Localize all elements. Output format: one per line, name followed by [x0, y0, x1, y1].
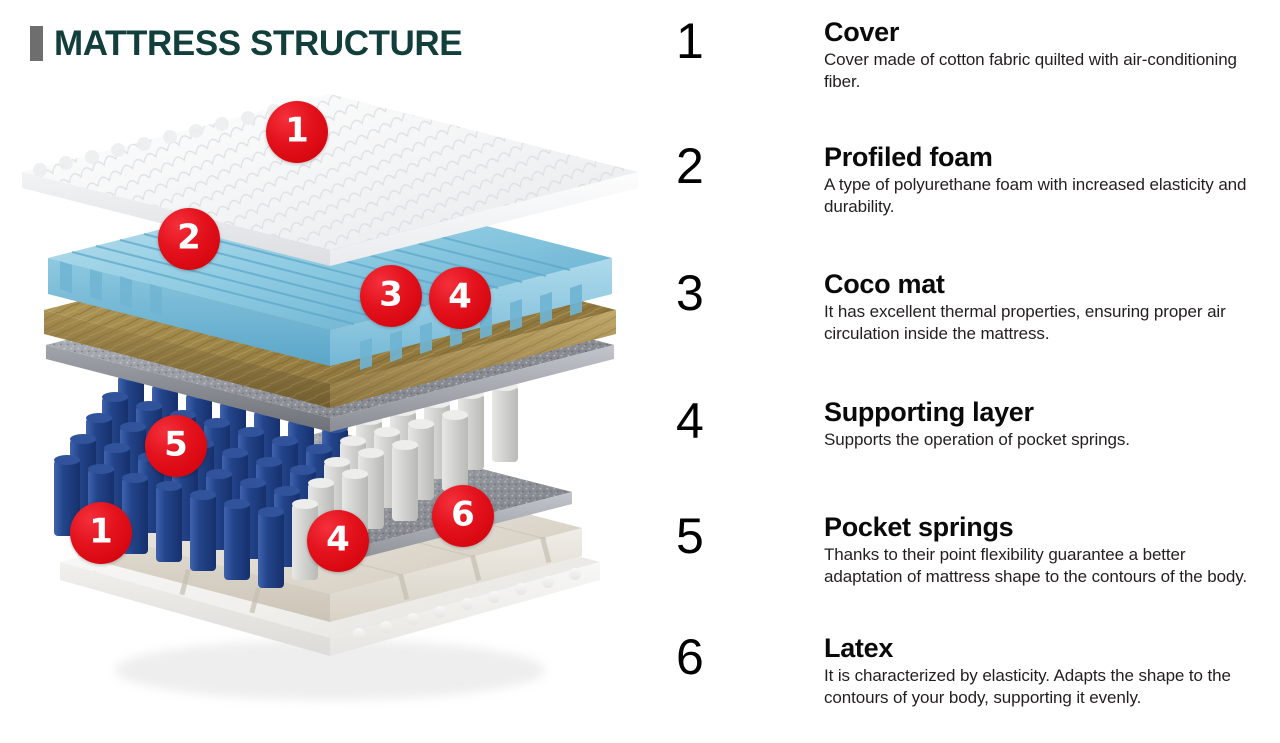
pin-number: 4 — [326, 523, 350, 557]
title-accent-mark — [30, 26, 43, 61]
legend-title: Cover — [824, 18, 1254, 46]
title-text: MATTRESS STRUCTURE — [54, 26, 462, 61]
pin-bubble: 1 — [676, 12, 768, 70]
legend-description: It is characterized by elasticity. Adapt… — [824, 665, 1254, 709]
legend-text-block: Profiled foam A type of polyurethane foa… — [824, 137, 1254, 219]
pin-number: 6 — [676, 629, 704, 685]
callout-pin-2-profiled-foam[interactable]: 2 — [158, 208, 220, 270]
legend-item-latex[interactable]: 6 Latex It is characterized by elasticit… — [660, 628, 1280, 720]
pin-number: 4 — [676, 393, 704, 449]
legend-description: Supports the operation of pocket springs… — [824, 429, 1254, 451]
pin-bubble: 5 — [145, 415, 207, 477]
pin-bubble: 3 — [676, 264, 768, 322]
pin-number: 5 — [676, 508, 704, 564]
legend-title: Latex — [824, 634, 1254, 662]
legend-pin-5[interactable]: 5 — [676, 507, 768, 599]
pin-bubble: 2 — [158, 208, 220, 270]
legend-title: Coco mat — [824, 270, 1254, 298]
legend-title: Pocket springs — [824, 513, 1254, 541]
pin-bubble: 1 — [70, 502, 132, 564]
legend-pin-4[interactable]: 4 — [676, 392, 768, 484]
callout-pin-1-cover-bottom[interactable]: 1 — [70, 502, 132, 564]
legend-title: Profiled foam — [824, 143, 1254, 171]
legend-text-block: Coco mat It has excellent thermal proper… — [824, 264, 1254, 346]
pin-bubble: 4 — [307, 510, 369, 572]
legend-description: A type of polyurethane foam with increas… — [824, 174, 1254, 218]
pin-number: 2 — [177, 221, 201, 255]
page-title: MATTRESS STRUCTURE — [30, 26, 462, 61]
pin-bubble: 5 — [676, 507, 768, 565]
pin-number: 3 — [379, 278, 403, 312]
pin-number: 5 — [164, 428, 188, 462]
pin-number: 2 — [676, 138, 704, 194]
pin-number: 1 — [676, 13, 704, 69]
mattress-illustration: 1 2 3 4 5 4 — [0, 60, 660, 720]
legend-description: Thanks to their point flexibility guaran… — [824, 544, 1254, 588]
pin-bubble: 3 — [360, 265, 422, 327]
pin-number: 1 — [285, 114, 309, 148]
legend-item-coco-mat[interactable]: 3 Coco mat It has excellent thermal prop… — [660, 264, 1280, 356]
legend-panel: 1 Cover Cover made of cotton fabric quil… — [660, 0, 1280, 743]
pin-bubble: 6 — [432, 485, 494, 547]
pin-bubble: 2 — [676, 137, 768, 195]
legend-item-cover[interactable]: 1 Cover Cover made of cotton fabric quil… — [660, 12, 1280, 104]
legend-description: It has excellent thermal properties, ens… — [824, 301, 1254, 345]
legend-description: Cover made of cotton fabric quilted with… — [824, 49, 1254, 93]
callout-pin-3-coco-mat[interactable]: 3 — [360, 265, 422, 327]
pin-number: 1 — [89, 515, 113, 549]
legend-text-block: Cover Cover made of cotton fabric quilte… — [824, 12, 1254, 94]
pin-bubble: 6 — [676, 628, 768, 686]
legend-text-block: Supporting layer Supports the operation … — [824, 392, 1254, 451]
callout-pin-4-supporting-layer-upper[interactable]: 4 — [429, 267, 491, 329]
legend-title: Supporting layer — [824, 398, 1254, 426]
pin-bubble: 4 — [429, 267, 491, 329]
legend-item-pocket-springs[interactable]: 5 Pocket springs Thanks to their point f… — [660, 507, 1280, 599]
legend-pin-6[interactable]: 6 — [676, 628, 768, 720]
pin-number: 6 — [451, 498, 475, 532]
pin-bubble: 1 — [266, 101, 328, 163]
legend-pin-3[interactable]: 3 — [676, 264, 768, 356]
pin-number: 4 — [448, 280, 472, 314]
legend-item-profiled-foam[interactable]: 2 Profiled foam A type of polyurethane f… — [660, 137, 1280, 229]
legend-pin-2[interactable]: 2 — [676, 137, 768, 229]
infographic-page: MATTRESS STRUCTURE — [0, 0, 1280, 743]
legend-item-supporting-layer[interactable]: 4 Supporting layer Supports the operatio… — [660, 392, 1280, 484]
legend-text-block: Latex It is characterized by elasticity.… — [824, 628, 1254, 710]
legend-text-block: Pocket springs Thanks to their point fle… — [824, 507, 1254, 589]
pin-number: 3 — [676, 265, 704, 321]
legend-pin-1[interactable]: 1 — [676, 12, 768, 104]
callout-pin-4-supporting-layer-lower[interactable]: 4 — [307, 510, 369, 572]
callout-pin-5-pocket-springs[interactable]: 5 — [145, 415, 207, 477]
callout-pin-6-latex[interactable]: 6 — [432, 485, 494, 547]
layer-cover-top — [22, 94, 638, 266]
pin-bubble: 4 — [676, 392, 768, 450]
callout-pin-1-cover[interactable]: 1 — [266, 101, 328, 163]
